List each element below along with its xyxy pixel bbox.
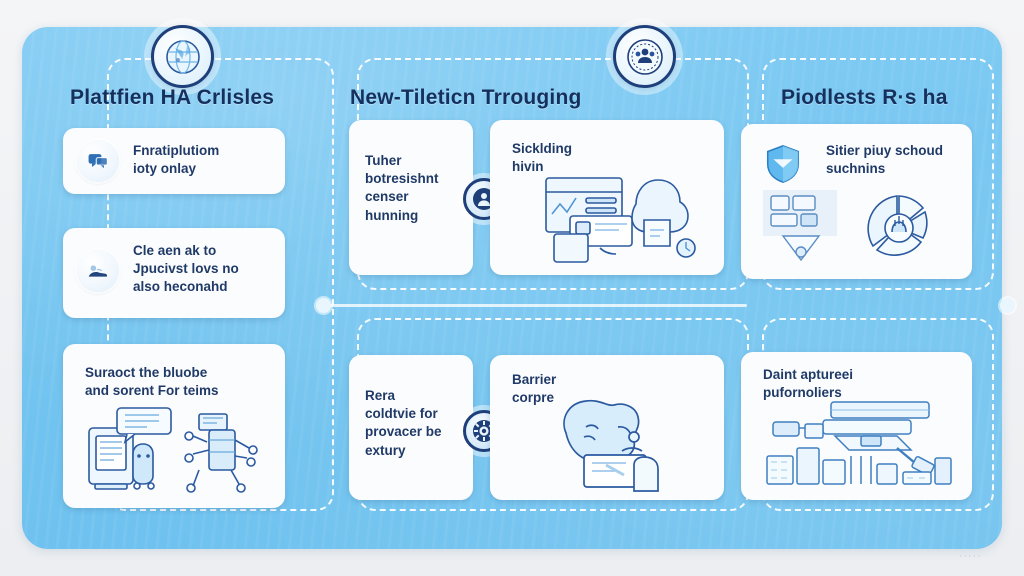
globe-icon bbox=[163, 37, 203, 77]
heading-middle-column: New-Tileticn Trrouging bbox=[350, 86, 582, 110]
chat-message-icon bbox=[77, 140, 119, 182]
card-middle-1[interactable]: Tuher botresishnt censer hunning bbox=[349, 120, 473, 275]
globe-network-badge bbox=[151, 25, 214, 88]
card-right-1-text: Sitier piuy schoud suchnins bbox=[826, 142, 943, 178]
shield-icon bbox=[761, 142, 805, 186]
connector-node-right bbox=[1000, 298, 1015, 313]
connector-line bbox=[322, 304, 747, 307]
card-middle-1-text: Tuher botresishnt censer hunning bbox=[365, 152, 439, 225]
card-middle-3-text: Rera coldtvie for provacer be extury bbox=[365, 387, 442, 460]
heading-left-column: Plattfien HA Crlisles bbox=[70, 86, 274, 110]
people-group-icon bbox=[625, 37, 665, 77]
pie-chart-illustration bbox=[759, 186, 955, 277]
card-left-3-text: Suraoct the bluobe and sorent For teims bbox=[85, 364, 219, 400]
card-right-1[interactable]: Sitier piuy schoud suchnins bbox=[741, 124, 972, 279]
card-left-1-text: Fnratiplutiom ioty onlay bbox=[133, 142, 219, 178]
card-left-1[interactable]: Fnratiplutiom ioty onlay bbox=[63, 128, 285, 194]
card-left-3[interactable]: Suraoct the bluobe and sorent For teims bbox=[63, 344, 285, 508]
heading-right-column: Piodlests R·s ha bbox=[781, 86, 948, 110]
connector-node-left bbox=[316, 298, 331, 313]
card-middle-4[interactable]: Barrier corpre bbox=[490, 355, 724, 500]
card-right-2[interactable]: Daint aptureei pufornoliers bbox=[741, 352, 972, 500]
server-robot-illustration bbox=[81, 406, 271, 503]
watermark: ····· bbox=[959, 550, 982, 562]
factory-machinery-illustration bbox=[761, 398, 957, 495]
person-at-desk-illustration bbox=[548, 393, 708, 500]
dashboard-monitor-illustration bbox=[540, 172, 720, 275]
person-lying-icon bbox=[77, 250, 119, 292]
infographic-canvas: Plattfien HA Crlisles New-Tileticn Trrou… bbox=[0, 0, 1024, 576]
card-left-2-text: Cle aen ak to Jpucivst lovs no also heco… bbox=[133, 242, 239, 297]
card-middle-2[interactable]: Sicklding hivin bbox=[490, 120, 724, 275]
team-group-badge bbox=[613, 25, 676, 88]
card-left-2[interactable]: Cle aen ak to Jpucivst lovs no also heco… bbox=[63, 228, 285, 318]
card-middle-2-text: Sicklding hivin bbox=[512, 140, 572, 176]
card-middle-3[interactable]: Rera coldtvie for provacer be extury bbox=[349, 355, 473, 500]
card-right-2-text: Daint aptureei pufornoliers bbox=[763, 366, 853, 402]
